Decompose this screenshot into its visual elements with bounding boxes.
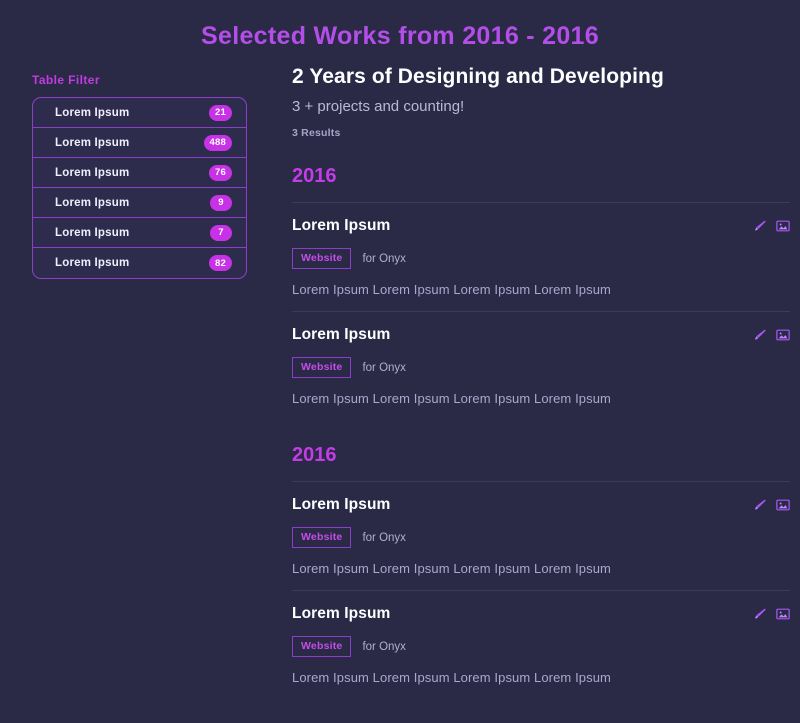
entry-title: Lorem Ipsum bbox=[292, 217, 390, 235]
filter-row[interactable]: Lorem Ipsum 82 bbox=[33, 248, 246, 278]
image-icon[interactable] bbox=[776, 498, 790, 512]
brush-icon[interactable] bbox=[753, 607, 767, 621]
year-heading: 2016 bbox=[292, 444, 790, 467]
image-icon[interactable] bbox=[776, 607, 790, 621]
filter-row[interactable]: Lorem Ipsum 7 bbox=[33, 218, 246, 248]
brush-icon[interactable] bbox=[753, 328, 767, 342]
entry-meta: Website for Onyx bbox=[292, 357, 790, 378]
project-entry[interactable]: Lorem Ipsum Website for Onyx Lorem Ipsum bbox=[292, 590, 790, 699]
entry-actions bbox=[753, 605, 790, 621]
filter-count-badge: 82 bbox=[209, 255, 232, 271]
entry-actions bbox=[753, 217, 790, 233]
page-title: Selected Works from 2016 - 2016 bbox=[0, 0, 800, 61]
entry-client: for Onyx bbox=[362, 253, 405, 265]
entry-meta: Website for Onyx bbox=[292, 636, 790, 657]
filter-row-label: Lorem Ipsum bbox=[55, 107, 129, 119]
table-filter-label: Table Filter bbox=[32, 73, 247, 87]
year-heading: 2016 bbox=[292, 165, 790, 188]
entry-header: Lorem Ipsum bbox=[292, 496, 790, 514]
filter-count-badge: 7 bbox=[210, 225, 232, 241]
main-heading: 2 Years of Designing and Developing bbox=[292, 65, 790, 89]
filter-count-badge: 76 bbox=[209, 165, 232, 181]
entry-title: Lorem Ipsum bbox=[292, 496, 390, 514]
filter-row-label: Lorem Ipsum bbox=[55, 167, 129, 179]
project-entry[interactable]: Lorem Ipsum Website for Onyx Lorem Ipsum bbox=[292, 202, 790, 311]
main-subheading: 3 + projects and counting! bbox=[292, 98, 790, 115]
filter-list: Lorem Ipsum 21 Lorem Ipsum 488 Lorem Ips… bbox=[32, 97, 247, 279]
entry-actions bbox=[753, 326, 790, 342]
filter-row[interactable]: Lorem Ipsum 76 bbox=[33, 158, 246, 188]
entry-title: Lorem Ipsum bbox=[292, 326, 390, 344]
entry-meta: Website for Onyx bbox=[292, 527, 790, 548]
project-entry[interactable]: Lorem Ipsum Website for Onyx Lorem Ipsum bbox=[292, 481, 790, 590]
filter-row[interactable]: Lorem Ipsum 21 bbox=[33, 98, 246, 128]
filter-count-badge: 9 bbox=[210, 195, 232, 211]
entry-description: Lorem Ipsum Lorem Ipsum Lorem Ipsum Lore… bbox=[292, 391, 790, 406]
entry-client: for Onyx bbox=[362, 532, 405, 544]
entry-header: Lorem Ipsum bbox=[292, 326, 790, 344]
filter-row-label: Lorem Ipsum bbox=[55, 257, 129, 269]
image-icon[interactable] bbox=[776, 219, 790, 233]
entry-tag[interactable]: Website bbox=[292, 636, 351, 657]
entry-description: Lorem Ipsum Lorem Ipsum Lorem Ipsum Lore… bbox=[292, 282, 790, 297]
filter-row-label: Lorem Ipsum bbox=[55, 197, 129, 209]
image-icon[interactable] bbox=[776, 328, 790, 342]
entry-meta: Website for Onyx bbox=[292, 248, 790, 269]
filter-row[interactable]: Lorem Ipsum 488 bbox=[33, 128, 246, 158]
entry-header: Lorem Ipsum bbox=[292, 605, 790, 623]
entry-description: Lorem Ipsum Lorem Ipsum Lorem Ipsum Lore… bbox=[292, 670, 790, 685]
content-layout: Table Filter Lorem Ipsum 21 Lorem Ipsum … bbox=[0, 61, 800, 723]
filter-count-badge: 21 bbox=[209, 105, 232, 121]
entry-tag[interactable]: Website bbox=[292, 248, 351, 269]
entry-title: Lorem Ipsum bbox=[292, 605, 390, 623]
filter-row-label: Lorem Ipsum bbox=[55, 227, 129, 239]
brush-icon[interactable] bbox=[753, 498, 767, 512]
filter-row[interactable]: Lorem Ipsum 9 bbox=[33, 188, 246, 218]
filter-count-badge: 488 bbox=[204, 135, 232, 151]
year-section: 2016 Lorem Ipsum Website for On bbox=[292, 444, 790, 699]
entry-header: Lorem Ipsum bbox=[292, 217, 790, 235]
entry-tag[interactable]: Website bbox=[292, 527, 351, 548]
results-count: 3 Results bbox=[292, 127, 790, 139]
filter-row-label: Lorem Ipsum bbox=[55, 137, 129, 149]
entry-client: for Onyx bbox=[362, 362, 405, 374]
entry-description: Lorem Ipsum Lorem Ipsum Lorem Ipsum Lore… bbox=[292, 561, 790, 576]
sidebar: Table Filter Lorem Ipsum 21 Lorem Ipsum … bbox=[32, 61, 247, 279]
entry-tag[interactable]: Website bbox=[292, 357, 351, 378]
main-content: 2 Years of Designing and Developing 3 + … bbox=[247, 61, 790, 723]
brush-icon[interactable] bbox=[753, 219, 767, 233]
entry-client: for Onyx bbox=[362, 641, 405, 653]
year-section: 2016 Lorem Ipsum Website for On bbox=[292, 165, 790, 420]
entry-actions bbox=[753, 496, 790, 512]
project-entry[interactable]: Lorem Ipsum Website for Onyx Lorem Ipsum bbox=[292, 311, 790, 420]
